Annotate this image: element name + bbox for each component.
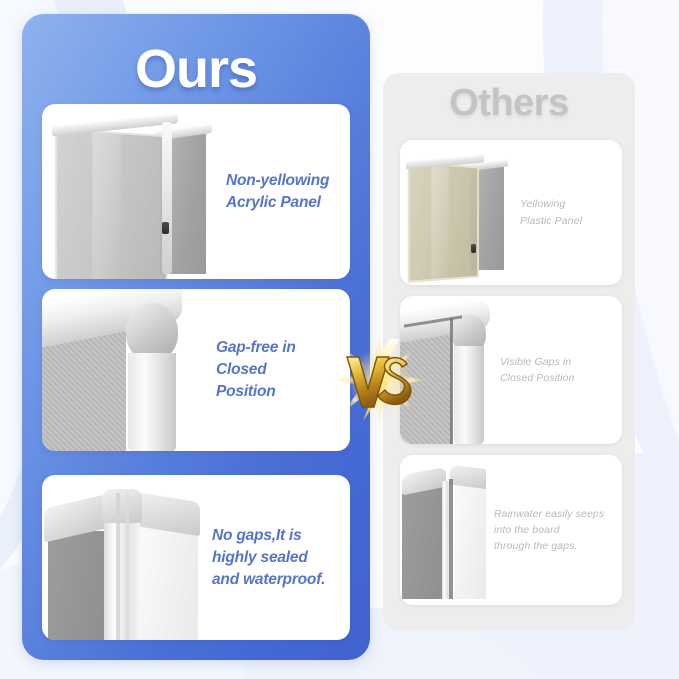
others-card-gaps: Visible Gaps in Closed Position bbox=[400, 296, 622, 444]
ours-card-gapfree-caption: Gap-free in Closed Position bbox=[204, 337, 350, 403]
caption-line: No gaps,It is bbox=[212, 525, 342, 547]
open-notice-board-acrylic-photo bbox=[42, 104, 214, 279]
ours-panel-title: Ours bbox=[22, 38, 370, 100]
others-card-gaps-caption: Visible Gaps in Closed Position bbox=[492, 354, 622, 387]
caption-line: Yellowing bbox=[520, 196, 616, 212]
caption-line: highly sealed bbox=[212, 547, 342, 569]
caption-line: Position bbox=[216, 381, 342, 403]
caption-line: Non-yellowing bbox=[226, 170, 342, 192]
caption-line: Visible Gaps in bbox=[500, 354, 616, 370]
rounded-corner-sealed-photo bbox=[42, 289, 204, 451]
ours-card-waterproof-caption: No gaps,It is highly sealed and waterpro… bbox=[200, 525, 350, 591]
caption-line: Acrylic Panel bbox=[226, 192, 342, 214]
ours-card-acrylic: Non-yellowing Acrylic Panel bbox=[42, 104, 350, 279]
ours-card-gapfree: Gap-free in Closed Position bbox=[42, 289, 350, 451]
caption-line: Gap-free in bbox=[216, 337, 342, 359]
caption-line: Closed bbox=[216, 359, 342, 381]
others-card-rainwater: Rainwater easily seeps into the board th… bbox=[400, 455, 622, 605]
ours-card-waterproof: No gaps,It is highly sealed and waterpro… bbox=[42, 475, 350, 640]
caption-line: through the gaps. bbox=[494, 538, 616, 554]
others-card-rainwater-caption: Rainwater easily seeps into the board th… bbox=[486, 506, 622, 555]
caption-line: into the board bbox=[494, 522, 616, 538]
others-card-acrylic: Yellowing Plastic Panel bbox=[400, 140, 622, 285]
ours-card-acrylic-caption: Non-yellowing Acrylic Panel bbox=[214, 170, 350, 214]
vs-lightning-badge bbox=[333, 337, 425, 423]
others-panel-title: Others bbox=[383, 82, 635, 125]
caption-line: Plastic Panel bbox=[520, 213, 616, 229]
others-card-acrylic-caption: Yellowing Plastic Panel bbox=[512, 196, 622, 229]
sealed-corner-joint-photo bbox=[42, 475, 200, 640]
infographic-canvas: Others Yellowing Plastic Panel bbox=[0, 0, 679, 679]
caption-line: Closed Position bbox=[500, 370, 616, 386]
caption-line: Rainwater easily seeps bbox=[494, 506, 616, 522]
open-notice-board-yellowed-photo bbox=[400, 140, 512, 285]
caption-line: and waterproof. bbox=[212, 569, 342, 591]
corner-joint-gap-photo bbox=[400, 455, 486, 605]
